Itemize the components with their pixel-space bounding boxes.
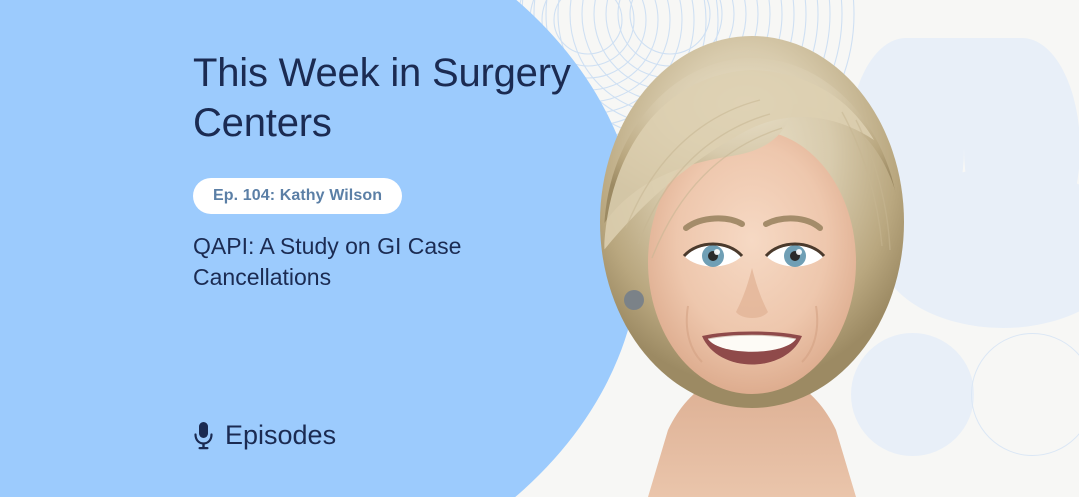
petal-right-half (964, 38, 1079, 258)
banner-content: This Week in Surgery Centers Ep. 104: Ka… (193, 0, 613, 497)
guest-portrait-photo (556, 0, 956, 497)
portrait-earring (624, 290, 644, 310)
episodes-link[interactable]: Episodes (193, 421, 336, 450)
status-badge: Ep. 104: Kathy Wilson (193, 178, 402, 214)
podcast-episode-banner: This Week in Surgery Centers Ep. 104: Ka… (0, 0, 1079, 497)
page-title: This Week in Surgery Centers (193, 48, 593, 148)
microphone-icon (193, 421, 214, 450)
outlined-circle-shape (971, 333, 1079, 456)
episodes-link-label: Episodes (225, 421, 336, 450)
episode-subtitle: QAPI: A Study on GI Case Cancellations (193, 231, 493, 293)
